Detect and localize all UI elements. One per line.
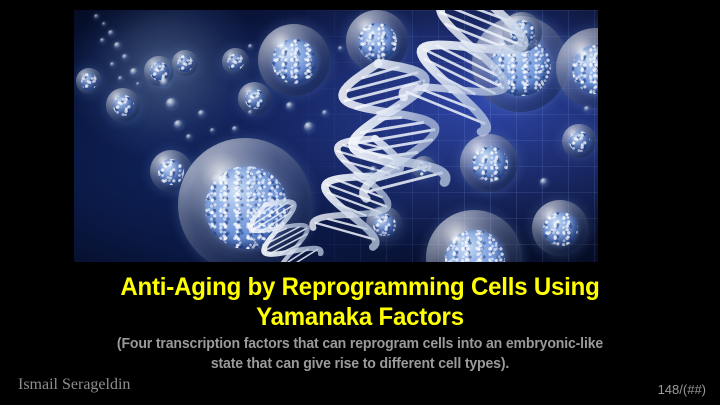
stem-cells-dna-illustration — [74, 10, 598, 262]
page-number: 148/(##) — [658, 381, 706, 399]
slide-subtitle: (Four transcription factors that can rep… — [32, 334, 688, 374]
author-name: Ismail Serageldin — [18, 375, 130, 395]
presentation-slide: Anti-Aging by Reprogramming Cells Using … — [0, 0, 720, 405]
slide-title: Anti-Aging by Reprogramming Cells Using … — [14, 272, 705, 332]
image-vignette — [74, 10, 598, 262]
